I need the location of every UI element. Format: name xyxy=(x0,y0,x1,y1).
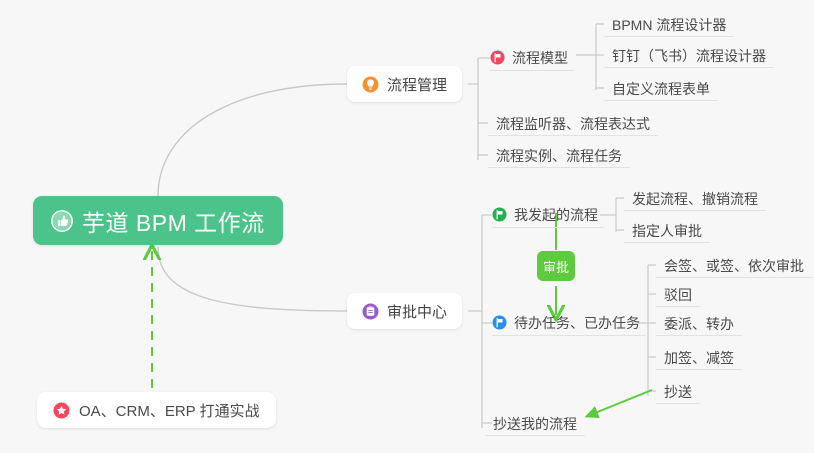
branch-node-process-management[interactable]: 流程管理 xyxy=(347,66,462,102)
branch-label-process-management: 流程管理 xyxy=(387,74,447,95)
leaf-label-delegate-transfer: 委派、转办 xyxy=(664,313,734,335)
leaf-label-process-listener: 流程监听器、流程表达式 xyxy=(496,113,650,135)
leaf-label-process-instance: 流程实例、流程任务 xyxy=(496,145,622,167)
leaf-label-cc: 抄送 xyxy=(664,381,692,403)
leaf-node-add-remove-sign[interactable]: 加签、减签 xyxy=(656,344,742,370)
flag-icon xyxy=(492,207,507,222)
leaf-label-custom-form: 自定义流程表单 xyxy=(612,78,710,100)
leaf-node-cc-to-me[interactable]: 抄送我的流程 xyxy=(485,410,585,436)
root-label: 芋道 BPM 工作流 xyxy=(82,204,265,238)
leaf-node-dingtalk-designer[interactable]: 钉钉（飞书）流程设计器 xyxy=(604,42,774,68)
integration-note-label: OA、CRM、ERP 打通实战 xyxy=(79,400,260,421)
sub-node-my-initiated[interactable]: 我发起的流程 xyxy=(492,202,604,228)
leaf-label-bpmn-designer: BPMN 流程设计器 xyxy=(612,14,726,36)
leaf-label-assignee-approval: 指定人审批 xyxy=(632,220,702,242)
leaf-label-dingtalk-designer: 钉钉（飞书）流程设计器 xyxy=(612,45,766,67)
leaf-node-process-listener[interactable]: 流程监听器、流程表达式 xyxy=(488,110,658,136)
integration-note[interactable]: OA、CRM、ERP 打通实战 xyxy=(37,392,276,428)
root-node[interactable]: 芋道 BPM 工作流 xyxy=(33,196,283,245)
wire-root-to-approval-center xyxy=(158,247,347,311)
sub-node-todo-done-tasks[interactable]: 待办任务、已办任务 xyxy=(492,310,646,336)
leaf-node-custom-form[interactable]: 自定义流程表单 xyxy=(604,75,718,101)
thumbs-up-icon xyxy=(51,210,73,232)
leaf-label-start-cancel-flow: 发起流程、撤销流程 xyxy=(632,188,758,210)
sub-label-my-initiated: 我发起的流程 xyxy=(514,205,598,225)
leaf-label-cc-to-me: 抄送我的流程 xyxy=(493,413,577,435)
approval-tag[interactable]: 审批 xyxy=(537,251,575,281)
leaf-node-countersign[interactable]: 会签、或签、依次审批 xyxy=(656,252,812,278)
clipboard-icon xyxy=(362,303,379,320)
leaf-node-delegate-transfer[interactable]: 委派、转办 xyxy=(656,310,742,336)
leaf-node-assignee-approval[interactable]: 指定人审批 xyxy=(624,217,710,243)
leaf-node-cc[interactable]: 抄送 xyxy=(656,378,700,404)
leaf-node-bpmn-designer[interactable]: BPMN 流程设计器 xyxy=(604,11,734,37)
lightbulb-icon xyxy=(362,76,379,93)
sub-node-process-model[interactable]: 流程模型 xyxy=(490,45,574,71)
leaf-label-countersign: 会签、或签、依次审批 xyxy=(664,255,804,277)
leaf-node-start-cancel-flow[interactable]: 发起流程、撤销流程 xyxy=(624,185,766,211)
approval-tag-label: 审批 xyxy=(543,257,569,276)
wire-root-to-process-management xyxy=(158,84,347,196)
flag-icon xyxy=(492,315,507,330)
branch-label-approval-center: 审批中心 xyxy=(387,301,447,322)
leaf-node-reject[interactable]: 驳回 xyxy=(656,281,700,307)
flag-icon xyxy=(490,50,505,65)
sub-label-process-model: 流程模型 xyxy=(512,48,568,68)
sub-label-todo-done-tasks: 待办任务、已办任务 xyxy=(514,313,640,333)
leaf-label-add-remove-sign: 加签、减签 xyxy=(664,347,734,369)
branch-node-approval-center[interactable]: 审批中心 xyxy=(347,293,462,329)
wire-cc-to-cc-flow xyxy=(590,390,652,415)
leaf-node-process-instance[interactable]: 流程实例、流程任务 xyxy=(488,142,630,168)
leaf-label-reject: 驳回 xyxy=(664,284,692,306)
mindmap-canvas: 芋道 BPM 工作流 流程管理 流程模型 BPMN 流程设计器 钉钉（飞书 xyxy=(0,0,814,453)
star-icon xyxy=(53,402,70,419)
